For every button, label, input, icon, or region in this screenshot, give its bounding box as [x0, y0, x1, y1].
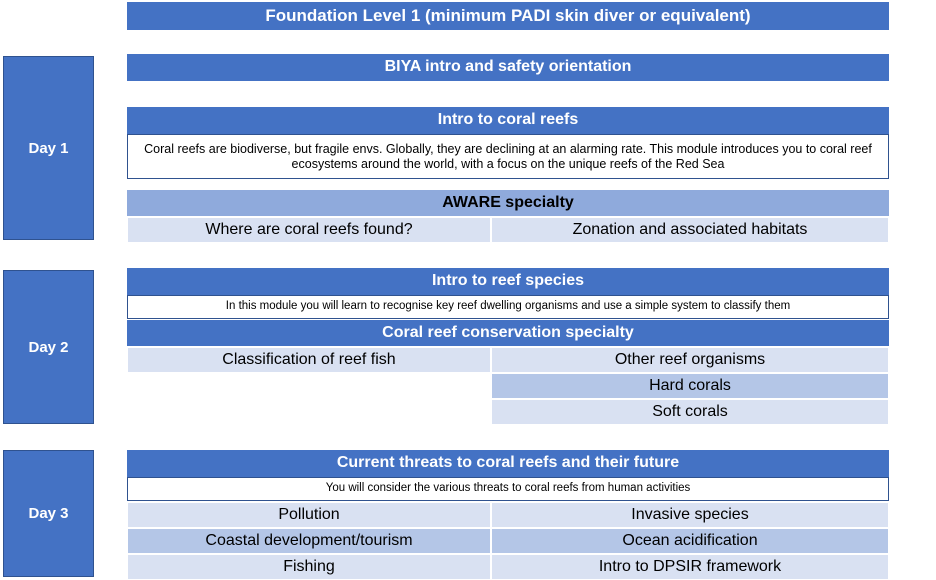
day1-topic-2: Zonation and associated habitats [491, 217, 889, 243]
day1-topic-1: Where are coral reefs found? [127, 217, 491, 243]
day2-topic-right-3: Soft corals [491, 399, 889, 425]
day2-module-header: Intro to reef species [127, 268, 889, 295]
day-label-2: Day 2 [3, 270, 94, 424]
day3-row-2-left: Coastal development/tourism [127, 528, 491, 554]
day3-row-1-right: Invasive species [491, 502, 889, 528]
day-label-3: Day 3 [3, 450, 94, 577]
foundation-level-title-bar: Foundation Level 1 (minimum PADI skin di… [127, 2, 889, 30]
day1-specialty-header: AWARE specialty [127, 190, 889, 216]
day3-row-2-right: Ocean acidification [491, 528, 889, 554]
day2-topic-right-2: Hard corals [491, 373, 889, 399]
day1-module-header: Intro to coral reefs [127, 107, 889, 134]
day3-module-description: You will consider the various threats to… [127, 477, 889, 501]
day3-module-header: Current threats to coral reefs and their… [127, 450, 889, 477]
day1-module-description: Coral reefs are biodiverse, but fragile … [127, 134, 889, 179]
day2-specialty-header: Coral reef conservation specialty [127, 320, 889, 346]
day3-row-3-right: Intro to DPSIR framework [491, 554, 889, 580]
day2-module-description: In this module you will learn to recogni… [127, 295, 889, 319]
day-label-1: Day 1 [3, 56, 94, 240]
day3-row-3-left: Fishing [127, 554, 491, 580]
day2-topic-right-1: Other reef organisms [491, 347, 889, 373]
orientation-bar: BIYA intro and safety orientation [127, 54, 889, 81]
day2-topic-left: Classification of reef fish [127, 347, 491, 373]
day3-row-1-left: Pollution [127, 502, 491, 528]
schedule-diagram: Foundation Level 1 (minimum PADI skin di… [0, 0, 936, 580]
